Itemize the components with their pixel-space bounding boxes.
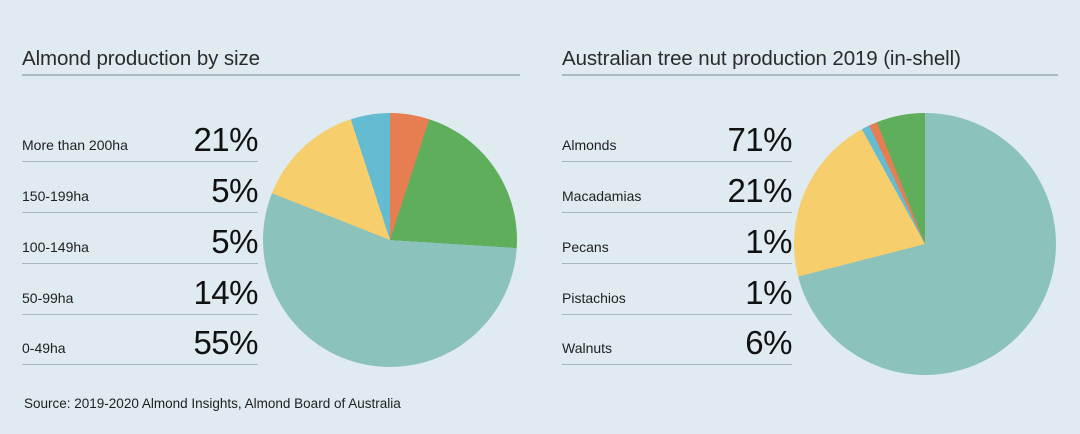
row-value: 5% (211, 174, 258, 212)
row-label: 100-149ha (22, 240, 89, 263)
row-value: 1% (745, 225, 792, 263)
table-row: 0-49ha 55% (22, 314, 258, 365)
table-row: More than 200ha 21% (22, 110, 258, 161)
data-table-right: Almonds 71% Macadamias 21% Pecans 1% Pis… (562, 110, 792, 365)
table-row: Walnuts 6% (562, 314, 792, 365)
table-row: Macadamias 21% (562, 161, 792, 212)
row-value: 1% (745, 276, 792, 314)
row-label: Walnuts (562, 341, 612, 364)
table-row: Pistachios 1% (562, 263, 792, 314)
panel-almond-production-by-size: Almond production by size More than 200h… (0, 0, 540, 434)
table-row: 50-99ha 14% (22, 263, 258, 314)
infographic-root: Almond production by size More than 200h… (0, 0, 1080, 434)
table-row: Pecans 1% (562, 212, 792, 263)
table-row: 150-199ha 5% (22, 161, 258, 212)
row-label: Pecans (562, 240, 609, 263)
row-value: 6% (745, 326, 792, 364)
page-title-left: Almond production by size (22, 47, 260, 71)
row-label: Macadamias (562, 189, 641, 212)
data-table-left: More than 200ha 21% 150-199ha 5% 100-149… (22, 110, 258, 365)
row-value: 21% (727, 174, 792, 212)
panel-australian-tree-nut-production: Australian tree nut production 2019 (in-… (540, 0, 1080, 434)
row-value: 55% (193, 326, 258, 364)
table-row: 100-149ha 5% (22, 212, 258, 263)
pie-chart-australian-tree-nut-production (794, 113, 1056, 375)
title-divider-right (562, 74, 1058, 76)
pie-chart-almond-production-by-size (263, 113, 517, 367)
row-value: 21% (193, 123, 258, 161)
row-value: 71% (727, 123, 792, 161)
source-note: Source: 2019-2020 Almond Insights, Almon… (24, 396, 401, 411)
row-label: More than 200ha (22, 138, 128, 161)
row-value: 14% (193, 276, 258, 314)
row-value: 5% (211, 225, 258, 263)
row-label: 50-99ha (22, 291, 73, 314)
table-row: Almonds 71% (562, 110, 792, 161)
row-label: 0-49ha (22, 341, 66, 364)
row-label: Almonds (562, 138, 616, 161)
page-title-right: Australian tree nut production 2019 (in-… (562, 47, 961, 71)
row-label: Pistachios (562, 291, 626, 314)
row-label: 150-199ha (22, 189, 89, 212)
title-divider-left (22, 74, 520, 76)
